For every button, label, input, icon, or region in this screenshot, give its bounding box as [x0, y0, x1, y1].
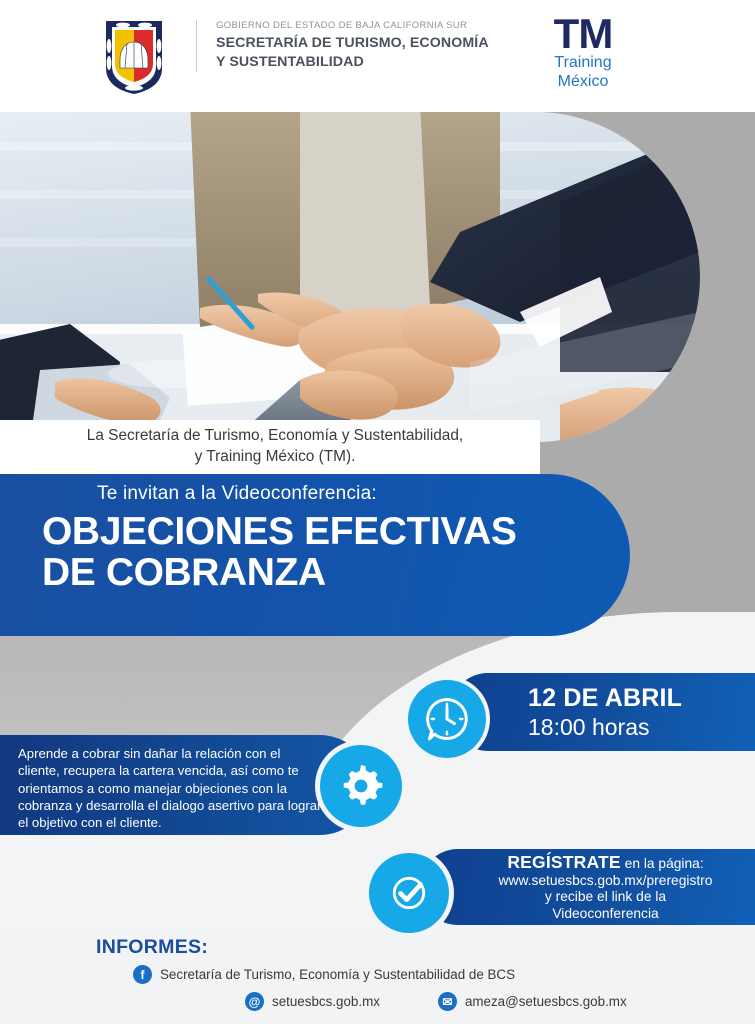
government-text-block: GOBIERNO DEL ESTADO DE BAJA CALIFORNIA S… — [196, 20, 546, 72]
contact-row-secondary: @ setuesbcs.gob.mx ✉ ameza@setuesbcs.gob… — [245, 992, 627, 1011]
registration-panel[interactable]: REGÍSTRATE en la página: www.setuesbcs.g… — [420, 849, 755, 925]
tm-logo-subtitle-2: México — [528, 73, 638, 92]
envelope-icon: ✉ — [438, 992, 457, 1011]
handshake-photo — [0, 112, 700, 442]
registration-note-2: Videoconferencia — [552, 906, 658, 922]
event-title-banner: Te invitan a la Videoconferencia: OBJECI… — [0, 474, 630, 636]
registration-url[interactable]: www.setuesbcs.gob.mx/preregistro — [499, 873, 713, 889]
email-address: ameza@setuesbcs.gob.mx — [465, 994, 627, 1009]
government-name: GOBIERNO DEL ESTADO DE BAJA CALIFORNIA S… — [216, 20, 546, 31]
event-date-badge: 12 DE ABRIL 18:00 horas — [450, 673, 755, 751]
contact-facebook[interactable]: f Secretaría de Turismo, Economía y Sust… — [133, 965, 515, 984]
registration-note-1: y recibe el link de la — [545, 889, 666, 905]
department-name-line2: Y SUSTENTABILIDAD — [216, 53, 546, 72]
intro-line-2: y Training México (TM). — [0, 447, 540, 468]
footer: INFORMES: f Secretaría de Turismo, Econo… — [0, 928, 755, 1024]
gear-icon — [320, 745, 402, 827]
website-url: setuesbcs.gob.mx — [272, 994, 380, 1009]
contact-website[interactable]: @ setuesbcs.gob.mx — [245, 992, 380, 1011]
event-title-line-1: OBJECIONES EFECTIVAS — [42, 511, 630, 552]
coat-of-arms-icon — [103, 18, 165, 96]
clock-speech-bubble-icon — [408, 680, 486, 758]
facebook-icon: f — [133, 965, 152, 984]
contact-email[interactable]: ✉ ameza@setuesbcs.gob.mx — [438, 992, 627, 1011]
tm-monogram: TM — [528, 14, 638, 54]
header: GOBIERNO DEL ESTADO DE BAJA CALIFORNIA S… — [0, 0, 755, 112]
event-time: 18:00 horas — [528, 714, 755, 741]
description-text: Aprende a cobrar sin dañar la relación c… — [18, 745, 324, 831]
check-circle-icon — [369, 853, 449, 933]
register-cta-suffix: en la página: — [621, 856, 704, 871]
tm-logo-subtitle-1: Training — [528, 54, 638, 73]
at-sign-icon: @ — [245, 992, 264, 1011]
footer-title: INFORMES: — [96, 936, 208, 959]
flyer-poster: GOBIERNO DEL ESTADO DE BAJA CALIFORNIA S… — [0, 0, 755, 1024]
facebook-handle: Secretaría de Turismo, Economía y Susten… — [160, 967, 515, 982]
event-date: 12 DE ABRIL — [528, 684, 755, 713]
event-title-line-2: DE COBRANZA — [42, 552, 630, 593]
register-cta: REGÍSTRATE — [507, 852, 621, 872]
department-name-line1: SECRETARÍA DE TURISMO, ECONOMÍA — [216, 34, 546, 53]
banner-kicker: Te invitan a la Videoconferencia: — [97, 483, 630, 505]
training-mexico-logo: TM Training México — [528, 14, 638, 92]
intro-line-1: La Secretaría de Turismo, Economía y Sus… — [0, 426, 540, 447]
description-panel: Aprende a cobrar sin dañar la relación c… — [0, 735, 370, 835]
intro-block: La Secretaría de Turismo, Economía y Sus… — [0, 420, 540, 480]
